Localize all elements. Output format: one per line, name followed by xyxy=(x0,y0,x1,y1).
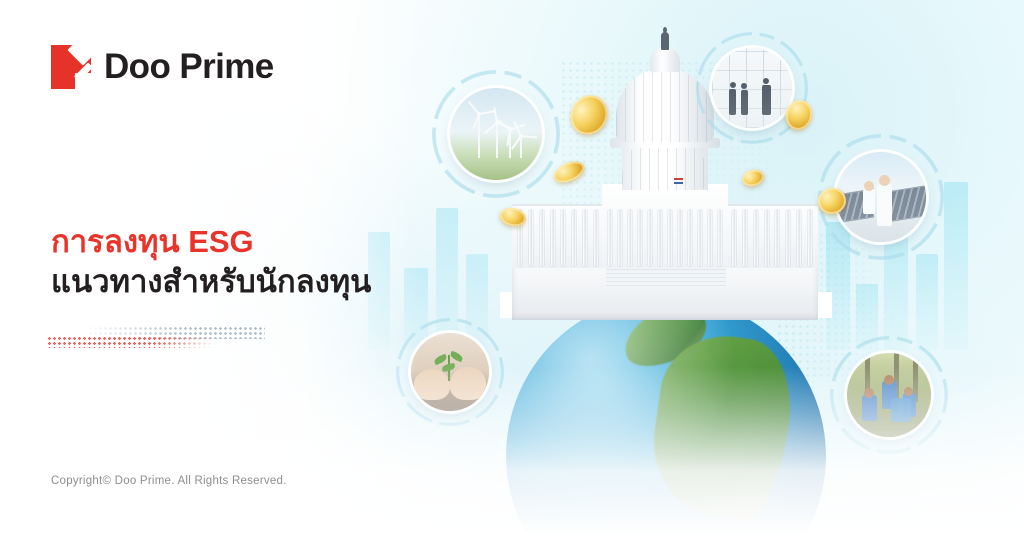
family-solar-panels-photo xyxy=(836,152,927,243)
bottom-white-fade xyxy=(0,366,1024,536)
esg-investing-banner: Doo Prime การลงทุน ESG แนวทางสำหรับนักลง… xyxy=(0,0,1024,536)
badge-photo xyxy=(836,152,927,243)
doo-prime-logo-mark-icon xyxy=(51,45,91,89)
decorative-dot-divider xyxy=(47,326,265,348)
chart-bar xyxy=(944,182,968,350)
copyright-text: Copyright© Doo Prime. All Rights Reserve… xyxy=(51,475,287,487)
statue-of-freedom xyxy=(661,32,669,50)
brand-name: Doo Prime xyxy=(104,47,274,87)
capitol-lantern xyxy=(650,48,680,72)
badge-photo xyxy=(712,48,793,129)
gold-coin xyxy=(816,186,847,216)
business-people-office-photo xyxy=(712,48,793,129)
headline-line-2: แนวทางสำหรับนักลงทุน xyxy=(51,262,451,302)
wind-turbine-farm-photo xyxy=(450,88,542,180)
badge-photo xyxy=(450,88,542,180)
headline-line-1: การลงทุน ESG xyxy=(51,222,451,262)
headline-block: การลงทุน ESG แนวทางสำหรับนักลงทุน xyxy=(51,222,451,301)
divider-dots-red xyxy=(47,336,217,348)
capitol-colonnade xyxy=(518,210,598,266)
capitol-steps xyxy=(606,266,726,286)
capitol-colonnade xyxy=(608,210,722,266)
badge-wind-turbines xyxy=(432,70,560,198)
capitol-colonnade xyxy=(732,210,812,266)
chart-bar xyxy=(916,254,938,350)
brand-logo[interactable]: Doo Prime xyxy=(51,45,274,89)
us-flag-icon xyxy=(674,178,683,184)
